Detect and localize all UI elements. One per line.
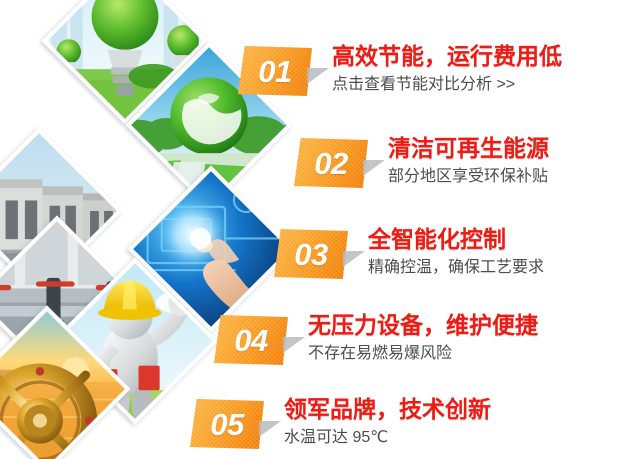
feature-subtitle: 水温可达 95℃ [284,427,491,449]
feature-number: 02 [294,138,368,188]
feature-leading-brand[interactable]: 05 领军品牌，技术创新 水温可达 95℃ [190,397,491,451]
feature-pressureless[interactable]: 04 无压力设备，维护便捷 不存在易燃易爆风险 [214,313,538,367]
feature-title: 全智能化控制 [368,227,544,253]
feature-number: 03 [274,229,348,279]
feature-text-block: 高效节能，运行费用低 点击查看节能对比分析 >> [332,44,562,95]
feature-number: 01 [238,46,312,96]
feature-smart-control[interactable]: 03 全智能化控制 精确控温，确保工艺要求 [274,227,544,281]
feature-number: 05 [190,399,264,449]
feature-title: 无压力设备，维护便捷 [308,313,538,339]
feature-badge-01: 01 [238,44,332,98]
promo-banner: 01 高效节能，运行费用低 点击查看节能对比分析 >> 02 清洁可再生能源 部… [0,0,620,459]
feature-title: 领军品牌，技术创新 [284,397,491,423]
feature-subtitle: 精确控温，确保工艺要求 [368,257,544,279]
feature-badge-02: 02 [294,136,388,190]
feature-badge-03: 03 [274,227,368,281]
feature-number: 04 [214,315,288,365]
feature-badge-05: 05 [190,397,284,451]
feature-text-block: 领军品牌，技术创新 水温可达 95℃ [284,397,491,448]
feature-text-block: 全智能化控制 精确控温，确保工艺要求 [368,227,544,278]
feature-subtitle: 部分地区享受环保补贴 [388,166,549,188]
feature-renewable-energy[interactable]: 02 清洁可再生能源 部分地区享受环保补贴 [294,136,549,190]
feature-title: 高效节能，运行费用低 [332,44,562,70]
feature-energy-saving[interactable]: 01 高效节能，运行费用低 点击查看节能对比分析 >> [238,44,562,98]
feature-title: 清洁可再生能源 [388,136,549,162]
feature-badge-04: 04 [214,313,308,367]
feature-subtitle-link[interactable]: 点击查看节能对比分析 >> [332,74,562,96]
feature-subtitle: 不存在易燃易爆风险 [308,343,538,365]
feature-text-block: 清洁可再生能源 部分地区享受环保补贴 [388,136,549,187]
feature-text-block: 无压力设备，维护便捷 不存在易燃易爆风险 [308,313,538,364]
